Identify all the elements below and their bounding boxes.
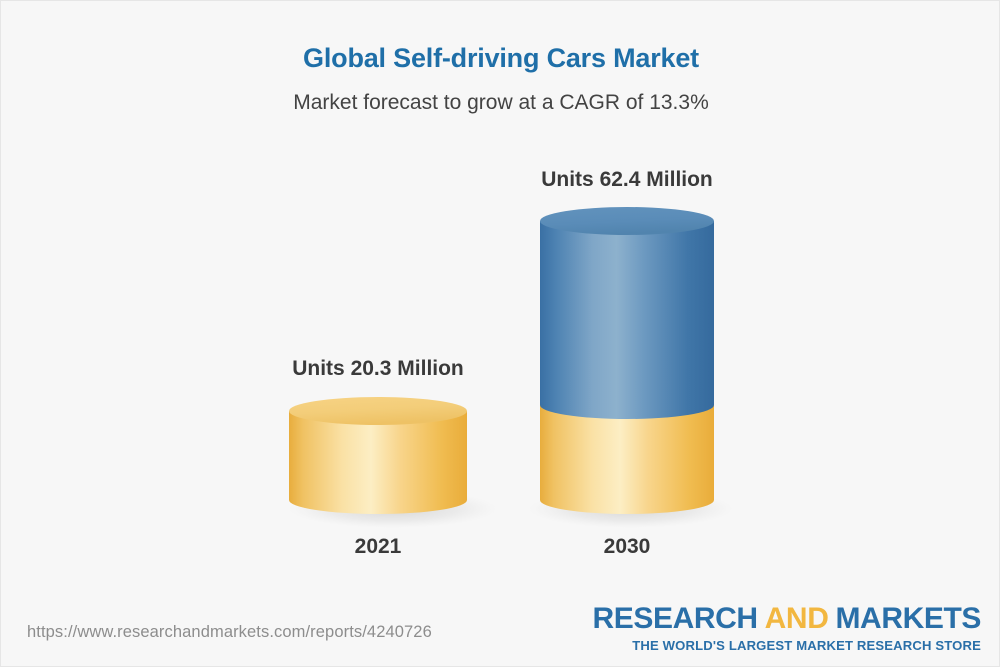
logo-word-research: RESEARCH <box>593 602 758 635</box>
research-and-markets-logo[interactable]: RESEARCHANDMARKETS THE WORLD'S LARGEST M… <box>593 604 981 652</box>
bar-2021 <box>289 397 497 528</box>
logo-word-markets: MARKETS <box>835 602 981 635</box>
bar-2030-base-segment <box>540 405 714 514</box>
category-label-2021: 2021 <box>278 534 478 560</box>
logo-word-and: AND <box>765 602 829 635</box>
category-label-2030: 2030 <box>527 534 727 560</box>
bar-2030 <box>529 207 733 528</box>
bar-2030-body <box>540 221 714 419</box>
bar-2021-top-cap <box>289 397 467 425</box>
infographic-canvas: Global Self-driving Cars Market Market f… <box>0 0 1000 667</box>
cylinder-bars <box>1 1 1000 601</box>
logo-wordmark: RESEARCHANDMARKETS <box>593 604 981 634</box>
value-label-2030: Units 62.4 Million <box>527 167 727 193</box>
bar-2021-body <box>289 411 467 514</box>
chart-plot-area: Units 20.3 Million <box>1 1 1000 601</box>
source-url[interactable]: https://www.researchandmarkets.com/repor… <box>27 623 432 642</box>
bar-2030-top-cap <box>540 207 714 235</box>
logo-tagline: THE WORLD'S LARGEST MARKET RESEARCH STOR… <box>593 639 981 652</box>
